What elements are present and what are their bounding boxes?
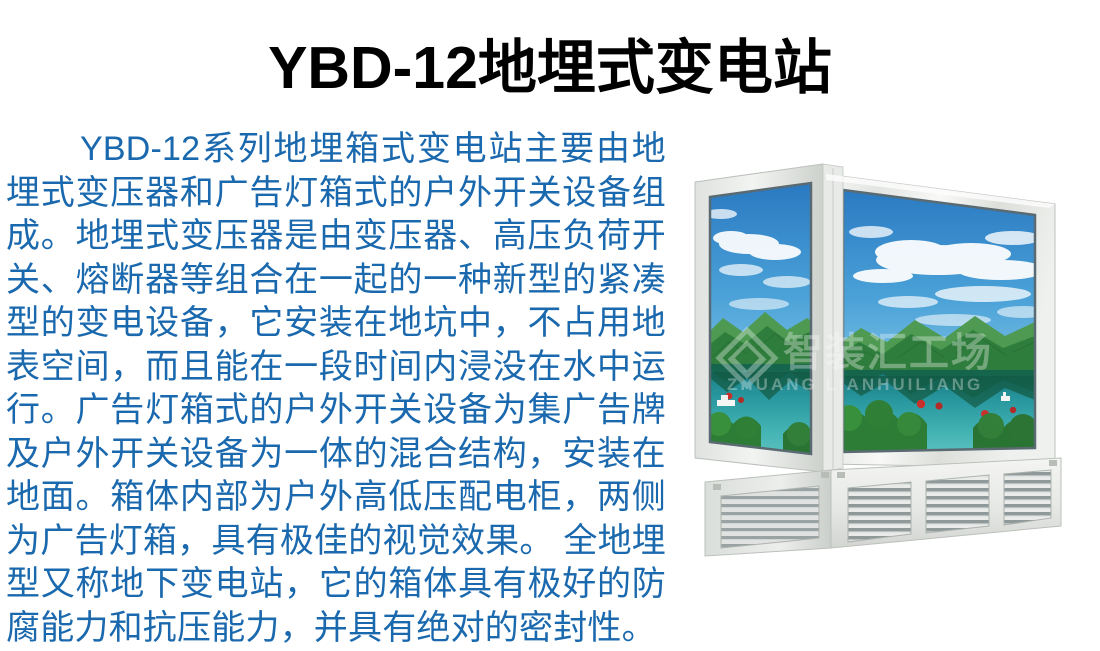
side-light-box	[695, 164, 823, 472]
base-plinth	[705, 458, 1061, 556]
product-photo: 智装汇工场 ZHUANG LIANHUILIANG	[683, 152, 1095, 562]
side-scene	[703, 177, 818, 462]
page-root: YBD-12地埋式变电站 YBD-12系列地埋箱式变电站主要由地埋式变压器和广告…	[0, 0, 1100, 651]
front-scene	[833, 182, 1049, 462]
louver-vent-front-3	[1004, 470, 1051, 525]
louver-vent-side-1	[721, 486, 819, 548]
product-description: YBD-12系列地埋箱式变电站主要由地埋式变压器和广告灯箱式的户外开关设备组成。…	[6, 128, 666, 650]
watermark-chinese: 智装汇工场	[783, 331, 993, 375]
product-photo-illustration: 智装汇工场 ZHUANG LIANHUILIANG	[683, 152, 1095, 562]
watermark-english: ZHUANG LIANHUILIANG	[727, 375, 983, 394]
photo-watermark: 智装汇工场 ZHUANG LIANHUILIANG	[719, 330, 993, 394]
paragraph-text: YBD-12系列地埋箱式变电站主要由地埋式变压器和广告灯箱式的户外开关设备组成。…	[6, 130, 666, 647]
page-title: YBD-12地埋式变电站	[0, 38, 1100, 100]
louver-vent-front-1	[848, 482, 911, 542]
louver-vent-front-2	[926, 475, 989, 533]
front-light-box	[826, 174, 1055, 468]
